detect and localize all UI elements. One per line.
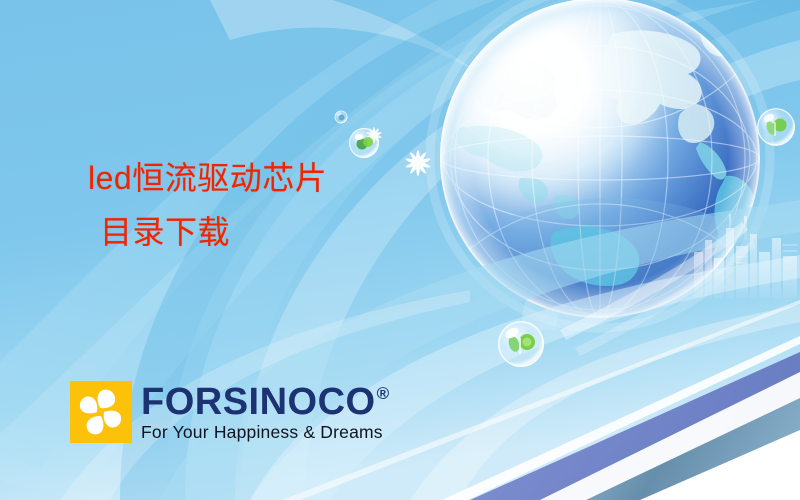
logo-wordmark-text: FORSINOCO — [141, 384, 376, 420]
company-logo: FORSINOCO ® For Your Happiness & Dreams — [70, 381, 390, 443]
daisy-flower-small — [366, 127, 382, 143]
logo-tagline: For Your Happiness & Dreams — [141, 422, 390, 442]
headline-line-2: 目录下载 — [100, 216, 418, 248]
bubble-globe-top — [349, 128, 379, 158]
earth-globe-group — [423, 0, 770, 338]
bubble-globe-tiny — [335, 111, 348, 124]
logo-text-group: FORSINOCO ® For Your Happiness & Dreams — [141, 382, 390, 442]
logo-wordmark-group: FORSINOCO ® — [141, 384, 390, 420]
pinwheel-flower-icon — [70, 381, 132, 443]
headline-line-1: led恒流驱动芯片 — [88, 162, 418, 194]
bubble-sprout-right — [757, 108, 795, 146]
promo-banner: led恒流驱动芯片 目录下载 FORSINOCO ® For Your Happ… — [0, 0, 800, 500]
city-skyline-silhouette — [560, 214, 797, 356]
registered-trademark-icon: ® — [377, 385, 390, 402]
headline-block: led恒流驱动芯片 目录下载 — [88, 162, 418, 248]
bubble-sprout-mid — [498, 321, 544, 367]
